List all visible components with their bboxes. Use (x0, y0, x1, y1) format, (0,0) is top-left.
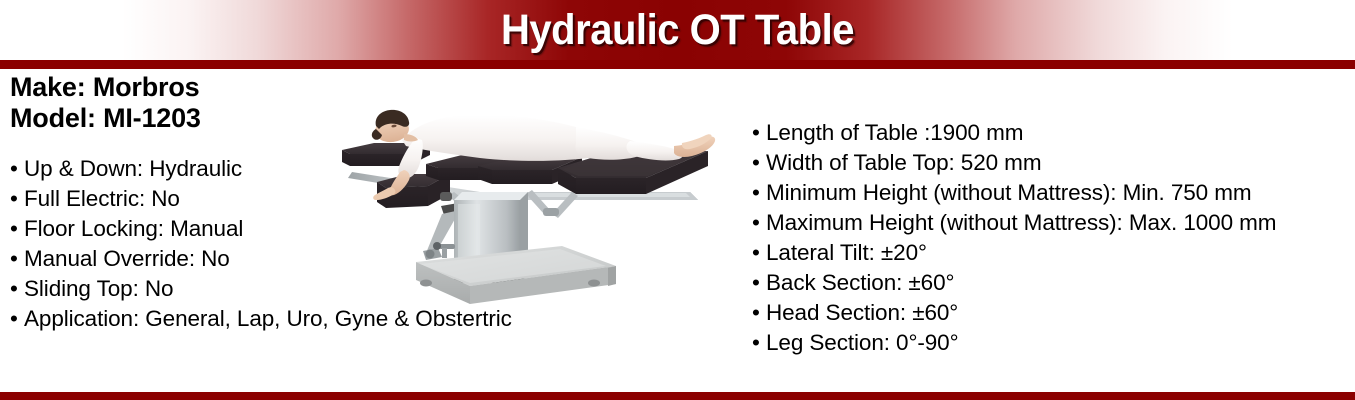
bullet-icon: • (10, 244, 24, 274)
list-item-label: Back Section: ±60° (766, 270, 954, 295)
bullet-icon: • (10, 214, 24, 244)
list-item: •Lateral Tilt: ±20° (752, 238, 1352, 268)
footer-divider-rule (0, 392, 1355, 400)
list-item: •Head Section: ±60° (752, 298, 1352, 328)
bullet-icon: • (752, 238, 766, 268)
bullet-icon: • (10, 154, 24, 184)
list-item-label: Sliding Top: No (24, 276, 173, 301)
list-item: •Minimum Height (without Mattress): Min.… (752, 178, 1352, 208)
bullet-icon: • (752, 148, 766, 178)
page-title: Hydraulic OT Table (47, 6, 1307, 54)
bullet-icon: • (10, 304, 24, 334)
bullet-icon: • (10, 184, 24, 214)
bullet-icon: • (10, 274, 24, 304)
bullet-icon: • (752, 268, 766, 298)
specifications-list: •Length of Table :1900 mm •Width of Tabl… (752, 118, 1352, 358)
list-item-label: Lateral Tilt: ±20° (766, 240, 927, 265)
bullet-icon: • (752, 328, 766, 358)
bullet-icon: • (752, 118, 766, 148)
list-item-label: Full Electric: No (24, 186, 180, 211)
bullet-icon: • (752, 208, 766, 238)
patient-gown-upper (402, 115, 607, 161)
list-item: •Maximum Height (without Mattress): Max.… (752, 208, 1352, 238)
list-item-label: Length of Table :1900 mm (766, 120, 1023, 145)
list-item-label: Up & Down: Hydraulic (24, 156, 242, 181)
list-item-label: Maximum Height (without Mattress): Max. … (766, 210, 1276, 235)
list-item-label: Head Section: ±60° (766, 300, 958, 325)
list-item: •Length of Table :1900 mm (752, 118, 1352, 148)
bullet-icon: • (752, 298, 766, 328)
list-item-label: Floor Locking: Manual (24, 216, 243, 241)
list-item: •Leg Section: 0°-90° (752, 328, 1352, 358)
product-image (330, 96, 730, 318)
ot-table-illustration (330, 96, 730, 318)
header-divider-rule (0, 60, 1355, 69)
list-item-label: Width of Table Top: 520 mm (766, 150, 1041, 175)
list-item: •Back Section: ±60° (752, 268, 1352, 298)
bullet-icon: • (752, 178, 766, 208)
list-item: •Width of Table Top: 520 mm (752, 148, 1352, 178)
list-item-label: Leg Section: 0°-90° (766, 330, 958, 355)
list-item-label: Manual Override: No (24, 246, 230, 271)
list-item-label: Minimum Height (without Mattress): Min. … (766, 180, 1252, 205)
